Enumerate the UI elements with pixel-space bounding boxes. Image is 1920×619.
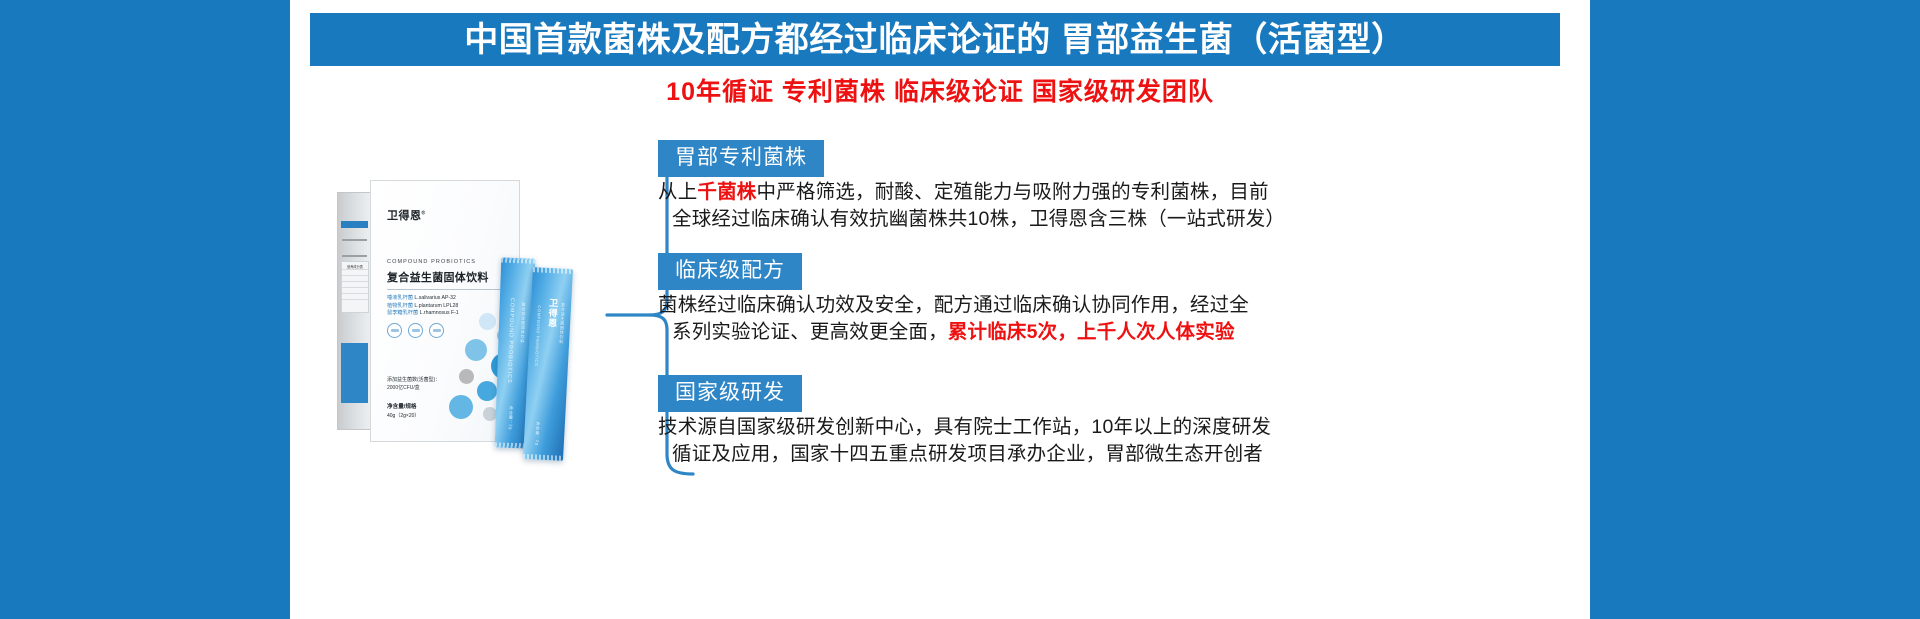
registered-mark: ®	[422, 210, 426, 216]
sachet-weight: 净含量：2g	[534, 421, 541, 445]
feature-section-patent-strain: 胃部专利菌株 从上千菌株中严格筛选，耐酸、定殖能力与吸附力强的专利菌株，目前 全…	[658, 140, 1298, 233]
body-text-highlight: 累计临床5次，上千人次人体实验	[948, 321, 1235, 343]
feature-section-national-rnd: 国家级研发 技术源自国家级研发创新中心，具有院士工作站，10年以上的深度研发 循…	[658, 375, 1298, 468]
feature-section-clinical-formula: 临床级配方 菌株经过临床确认功效及安全，配方通过临床确认协同作用，经过全 系列实…	[658, 253, 1298, 346]
sachet-chinese-text: 复合益生菌固体饮料	[558, 303, 566, 345]
strain-cn-2: 鼠李糖乳杆菌	[387, 310, 418, 316]
body-text-pre: 系列实验论证、更高效更全面，	[672, 321, 948, 343]
sachet-english-text: COMPOUND PROBIOTICS	[506, 298, 515, 384]
product-english-name: COMPOUND PROBIOTICS	[387, 259, 476, 265]
probiotic-icon	[387, 323, 402, 338]
brand-name: 卫得恩®	[387, 207, 426, 223]
body-text-highlight: 千菌株	[697, 181, 756, 203]
net-weight-info: 净含量/规格 40g（2g×20）	[387, 403, 419, 420]
strain-list: 唾液乳杆菌 L.salivarius AP-32 植物乳杆菌 L.plantar…	[387, 295, 459, 318]
subtitle-text: 10年循证 专利菌株 临床级论证 国家级研发团队	[290, 72, 1590, 108]
certification-icons	[387, 323, 444, 338]
sachet-english-text: COMPOUND PROBIOTICS	[534, 305, 542, 366]
strain-latin-1: L.plantarum LPL28	[414, 303, 458, 309]
strain-latin-2: L.rhamnosus F-1	[420, 310, 459, 316]
section-tag: 胃部专利菌株	[658, 140, 824, 177]
product-package-image: 营养成分表 卫得恩® COMPOUND PROBIOTICS 复合益生菌固体饮料	[315, 170, 600, 470]
left-blue-rail	[0, 0, 290, 619]
divider	[387, 289, 505, 290]
right-blue-rail	[1590, 0, 1920, 619]
nutrition-title: 营养成分表	[342, 262, 368, 269]
product-sachet: COMPOUND PROBIOTICS 卫得恩 复合益生菌固体饮料 净含量：2g	[523, 267, 573, 461]
probiotic-icon	[408, 323, 423, 338]
dose-info: 添加益生菌数(活菌型)： 2000亿CFU/盒	[387, 377, 440, 392]
package-side-panel: 营养成分表	[337, 192, 370, 430]
body-text-line2: 循证及应用，国家十四五重点研发项目承办企业，胃部微生态开创者	[658, 441, 1298, 468]
section-body: 菌株经过临床确认功效及安全，配方通过临床确认协同作用，经过全 系列实验论证、更高…	[658, 292, 1298, 346]
dose-value: 2000亿CFU/盒	[387, 385, 440, 393]
net-weight-value: 40g（2g×20）	[387, 413, 419, 419]
section-tag: 临床级配方	[658, 253, 802, 290]
body-text-post: 中严格筛选，耐酸、定殖能力与吸附力强的专利菌株，目前	[757, 181, 1269, 203]
strain-latin-0: L.salivarius AP-32	[414, 295, 456, 301]
section-body: 从上千菌株中严格筛选，耐酸、定殖能力与吸附力强的专利菌株，目前 全球经过临床确认…	[658, 179, 1298, 233]
body-text-line1: 菌株经过临床确认功效及安全，配方通过临床确认协同作用，经过全	[658, 292, 1298, 319]
dose-label: 添加益生菌数(活菌型)：	[387, 377, 440, 385]
product-chinese-name: 复合益生菌固体饮料	[387, 269, 489, 285]
nutrition-table: 营养成分表	[341, 261, 369, 313]
brand-label: 卫得恩	[387, 210, 422, 222]
title-banner: 中国首款菌株及配方都经过临床论证的 胃部益生菌（活菌型）	[310, 13, 1560, 66]
slide-stage: 中国首款菌株及配方都经过临床论证的 胃部益生菌（活菌型） 10年循证 专利菌株 …	[290, 0, 1590, 619]
body-text-line1: 技术源自国家级研发创新中心，具有院士工作站，10年以上的深度研发	[658, 414, 1298, 441]
strain-cn-0: 唾液乳杆菌	[387, 295, 413, 301]
strain-cn-1: 植物乳杆菌	[387, 303, 413, 309]
net-weight-label: 净含量/规格	[387, 403, 419, 412]
probiotic-icon	[429, 323, 444, 338]
sachet-weight: 净含量：2g	[507, 406, 514, 430]
body-text-pre: 从上	[658, 181, 697, 203]
body-text-line2: 全球经过临床确认有效抗幽菌株共10株，卫得恩含三株（一站式研发）	[658, 206, 1298, 233]
sachet-chinese-text: 复合益生菌固体饮料	[519, 302, 526, 344]
page-title: 中国首款菌株及配方都经过临床论证的 胃部益生菌（活菌型）	[464, 23, 1405, 57]
section-tag: 国家级研发	[658, 375, 802, 412]
section-body: 技术源自国家级研发创新中心，具有院士工作站，10年以上的深度研发 循证及应用，国…	[658, 414, 1298, 468]
